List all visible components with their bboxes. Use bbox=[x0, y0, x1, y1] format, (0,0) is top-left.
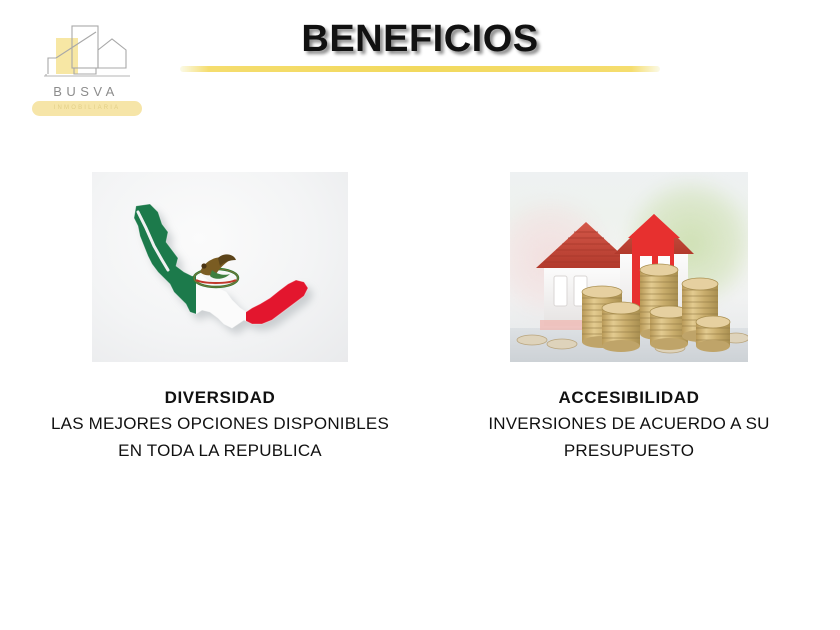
benefit-body-line-2: EN TODA LA REPUBLICA bbox=[14, 437, 426, 464]
brand-tagline-pill: INMOBILIARIA bbox=[32, 101, 142, 116]
benefit-body-line-2: PRESUPUESTO bbox=[432, 437, 826, 464]
benefit-body-line-1: LAS MEJORES OPCIONES DISPONIBLES bbox=[14, 410, 426, 437]
benefit-heading: DIVERSIDAD bbox=[14, 386, 426, 410]
page-title: BENEFICIOS bbox=[0, 18, 840, 61]
mexico-map-flag-image bbox=[92, 172, 348, 362]
benefit-card-accesibilidad: ACCESIBILIDAD INVERSIONES DE ACUERDO A S… bbox=[432, 172, 826, 464]
title-underline-rule bbox=[180, 66, 660, 72]
benefit-heading: ACCESIBILIDAD bbox=[432, 386, 826, 410]
benefit-body-line-1: INVERSIONES DE ACUERDO A SU bbox=[432, 410, 826, 437]
brand-name: BUSVA bbox=[26, 84, 146, 99]
benefit-caption-diversidad: DIVERSIDAD LAS MEJORES OPCIONES DISPONIB… bbox=[14, 386, 426, 464]
benefit-card-diversidad: DIVERSIDAD LAS MEJORES OPCIONES DISPONIB… bbox=[14, 172, 426, 464]
brand-tagline: INMOBILIARIA bbox=[32, 101, 142, 116]
benefit-caption-accesibilidad: ACCESIBILIDAD INVERSIONES DE ACUERDO A S… bbox=[432, 386, 826, 464]
slide-root: BUSVA INMOBILIARIA BENEFICIOS bbox=[0, 0, 840, 630]
house-and-coins-image bbox=[510, 172, 748, 362]
